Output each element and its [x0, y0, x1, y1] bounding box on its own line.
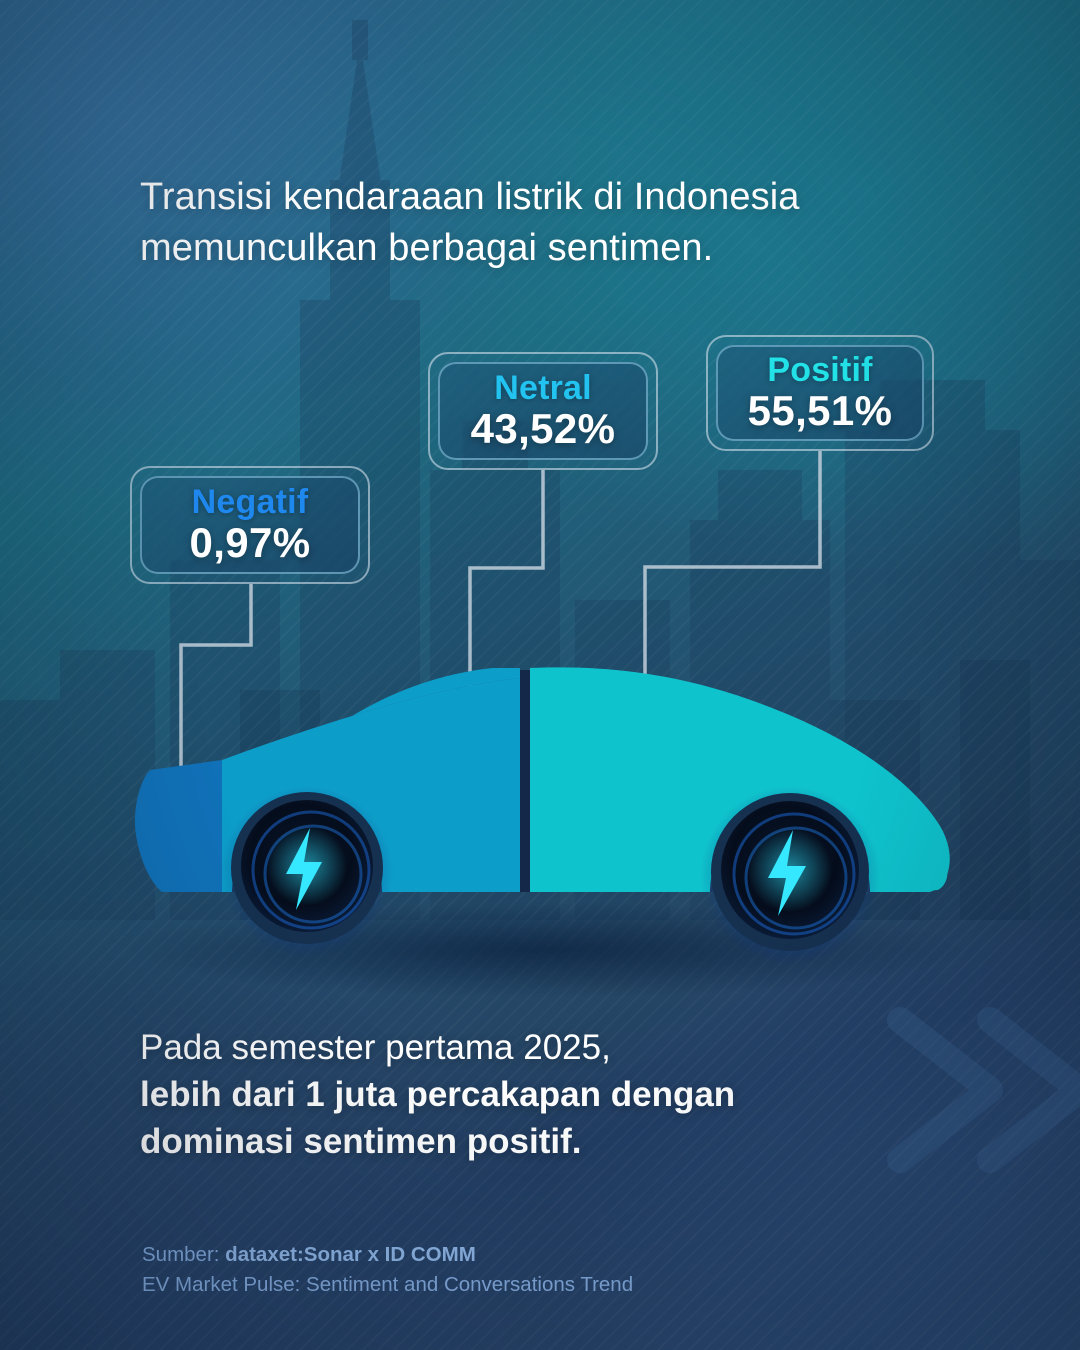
callout-value-positif: 55,51%: [748, 388, 893, 433]
electric-car-illustration: [0, 620, 1080, 1000]
callout-inner-frame: Positif 55,51%: [716, 345, 924, 441]
statement-line-3: dominasi sentimen positif.: [140, 1119, 960, 1166]
callout-inner-frame: Negatif 0,97%: [140, 476, 360, 574]
source-brand: dataxet:Sonar x ID COMM: [225, 1243, 476, 1266]
wheel-front: [221, 786, 393, 958]
callout-inner-frame: Netral 43,52%: [438, 362, 648, 460]
callout-netral[interactable]: Netral 43,52%: [428, 352, 658, 470]
source-subtitle: EV Market Pulse: Sentiment and Conversat…: [142, 1270, 942, 1300]
callout-label-positif: Positif: [767, 353, 872, 388]
callout-value-netral: 43,52%: [471, 406, 616, 451]
source-attribution: Sumber: dataxet:Sonar x ID COMM EV Marke…: [142, 1240, 942, 1301]
page-title: Transisi kendaraaan listrik di Indonesia…: [140, 172, 940, 273]
statement-line-1: Pada semester pertama 2025,: [140, 1025, 960, 1072]
callout-positif[interactable]: Positif 55,51%: [706, 335, 934, 451]
wheel-rear: [700, 786, 880, 966]
infographic-poster: Transisi kendaraaan listrik di Indonesia…: [0, 0, 1080, 1350]
statement-line-2: lebih dari 1 juta percakapan dengan: [140, 1072, 960, 1119]
headline-line-1: Transisi kendaraaan listrik di Indonesia: [140, 172, 940, 223]
headline-line-2: memunculkan berbagai sentimen.: [140, 223, 940, 274]
source-prefix: Sumber:: [142, 1243, 225, 1266]
callout-value-negatif: 0,97%: [189, 520, 310, 565]
callout-negatif[interactable]: Negatif 0,97%: [130, 466, 370, 584]
callout-label-netral: Netral: [494, 371, 592, 406]
source-line: Sumber: dataxet:Sonar x ID COMM: [142, 1240, 942, 1270]
callout-label-negatif: Negatif: [192, 485, 309, 520]
background-glow-top-right: [430, 0, 1080, 570]
summary-statement: Pada semester pertama 2025, lebih dari 1…: [140, 1025, 960, 1166]
